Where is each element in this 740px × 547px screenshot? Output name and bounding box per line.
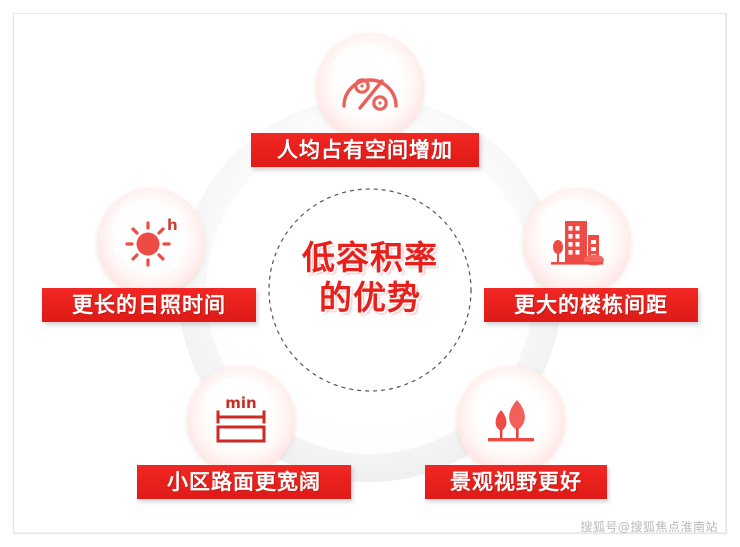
min-width-ruler-icon: min: [187, 366, 295, 474]
center-title-line1: 低容积率: [302, 238, 438, 277]
node-left-bubble[interactable]: h: [97, 188, 205, 296]
node-bottom-right-bubble[interactable]: [457, 366, 565, 474]
infographic-canvas: 低容积率 的优势 人均占有空间增加: [0, 0, 740, 547]
watermark: 搜狐号@搜狐焦点淮南站: [580, 518, 718, 535]
node-bottom-left-label[interactable]: 小区路面更宽阔: [137, 465, 351, 499]
sun-icon-hour-label: h: [167, 216, 178, 234]
percent-gauge-icon: [316, 33, 424, 141]
node-bottom-right-label[interactable]: 景观视野更好: [425, 465, 607, 499]
center-title-line2: 的优势: [260, 278, 480, 318]
sun-hours-icon: h: [97, 188, 205, 296]
buildings-icon: [523, 188, 631, 296]
node-bottom-left-bubble[interactable]: min: [187, 366, 295, 474]
node-top-label[interactable]: 人均占有空间增加: [251, 133, 479, 167]
node-top-bubble[interactable]: [316, 33, 424, 141]
ruler-min-label: min: [225, 394, 256, 412]
center-title: 低容积率 的优势: [260, 238, 480, 318]
node-left-label[interactable]: 更长的日照时间: [42, 288, 256, 322]
node-right-label[interactable]: 更大的楼栋间距: [484, 288, 698, 322]
trees-icon: [457, 366, 565, 474]
node-right-bubble[interactable]: [523, 188, 631, 296]
